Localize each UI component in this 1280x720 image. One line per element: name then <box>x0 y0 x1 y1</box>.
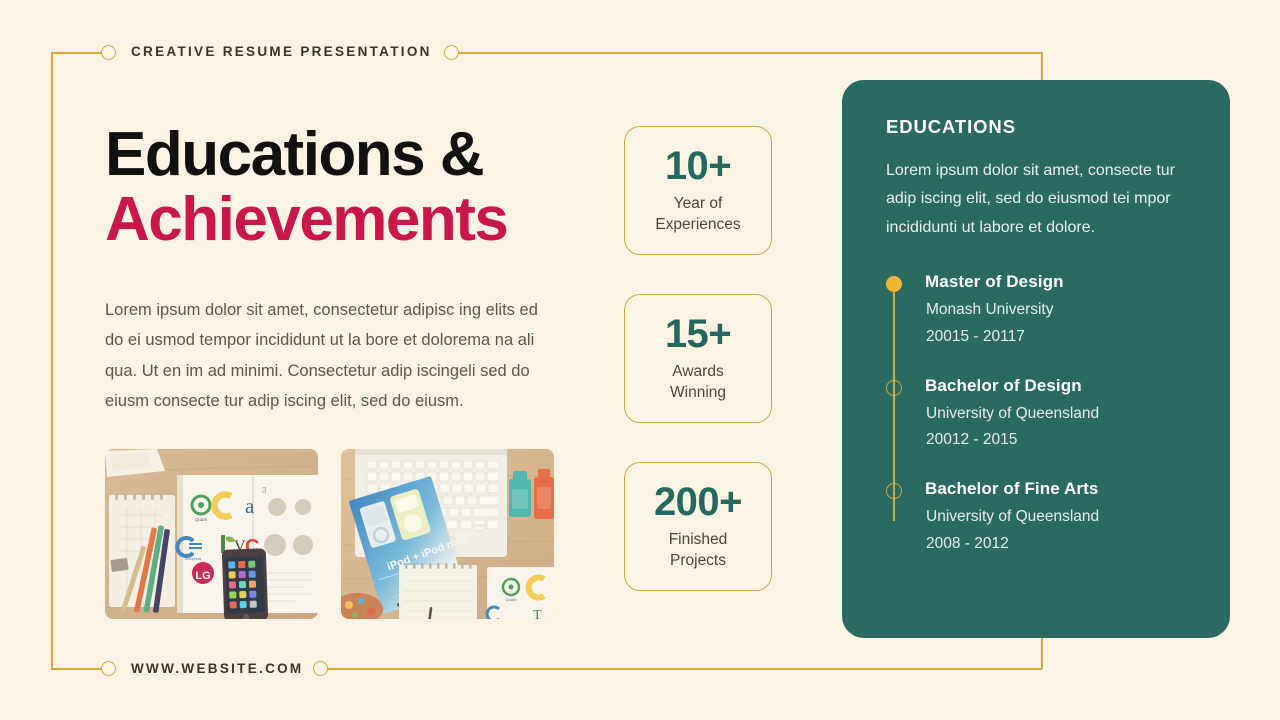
stat-card-experience: 10+ Year of Experiences <box>624 126 772 255</box>
stat-number: 15+ <box>665 314 731 354</box>
timeline-degree: Bachelor of Fine Arts <box>925 479 1196 499</box>
stat-label-line-2: Experiences <box>655 216 740 233</box>
frame-top-right-line <box>458 52 1042 54</box>
stat-label: Year of Experiences <box>655 194 740 235</box>
circle-marker-icon <box>101 661 116 676</box>
timeline-dot-icon <box>886 276 902 292</box>
educations-panel-title: EDUCATIONS <box>886 116 1196 138</box>
slide-footer-website-label: WWW.WEBSITE.COM <box>131 661 303 676</box>
educations-panel-description: Lorem ipsum dolor sit amet, consecte tur… <box>886 157 1196 242</box>
stat-label-line-1: Year of <box>674 195 723 212</box>
timeline-years: 2008 - 2012 <box>925 531 1196 558</box>
frame-top-left-line <box>51 52 101 54</box>
stat-card-projects: 200+ Finished Projects <box>624 462 772 591</box>
timeline-item: Bachelor of Fine Arts University of Quee… <box>925 479 1196 557</box>
stat-label-line-2: Winning <box>670 384 726 401</box>
timeline-degree: Master of Design <box>925 272 1196 292</box>
timeline-school: University of Queensland <box>925 401 1196 428</box>
page-title-line-2: Achievements <box>105 190 565 251</box>
frame-bottom-left-line <box>51 668 101 670</box>
circle-marker-icon <box>444 45 459 60</box>
stat-number: 200+ <box>654 482 742 522</box>
frame-bottom-right-line <box>327 668 1042 670</box>
intro-paragraph: Lorem ipsum dolor sit amet, consectetur … <box>105 295 555 417</box>
timeline-school: University of Queensland <box>925 504 1196 531</box>
stat-label-line-1: Finished <box>669 531 728 548</box>
timeline-degree: Bachelor of Design <box>925 376 1196 396</box>
laptop-keyboard-ipod-book-photo: iPod + iPod mini <box>341 449 554 619</box>
timeline-circle-icon <box>886 483 902 499</box>
education-timeline: Master of Design Monash University 20015… <box>886 272 1196 557</box>
stat-label-line-2: Projects <box>670 552 726 569</box>
educations-panel: EDUCATIONS Lorem ipsum dolor sit amet, c… <box>842 80 1230 638</box>
photo-gallery: Quark a wordpress V C LG <box>105 449 554 619</box>
timeline-school: Monash University <box>925 297 1196 324</box>
stat-label-line-1: Awards <box>672 363 723 380</box>
desk-notebook-magazine-phone-photo: Quark a wordpress V C LG <box>105 449 318 619</box>
timeline-circle-icon <box>886 380 902 396</box>
stat-label: Finished Projects <box>669 530 728 571</box>
stat-number: 10+ <box>665 146 731 186</box>
stat-card-awards: 15+ Awards Winning <box>624 294 772 423</box>
frame-left-vertical-line <box>51 52 53 668</box>
timeline-years: 20012 - 2015 <box>925 427 1196 454</box>
circle-marker-icon <box>101 45 116 60</box>
left-content-column: Educations & Achievements Lorem ipsum do… <box>105 125 565 417</box>
timeline-years: 20015 - 20117 <box>925 324 1196 351</box>
stat-label: Awards Winning <box>670 362 726 403</box>
slide-header-label: CREATIVE RESUME PRESENTATION <box>131 44 432 59</box>
page-title-line-1: Educations & <box>105 125 565 186</box>
timeline-item: Master of Design Monash University 20015… <box>925 272 1196 350</box>
timeline-item: Bachelor of Design University of Queensl… <box>925 376 1196 454</box>
statistics-column: 10+ Year of Experiences 15+ Awards Winni… <box>624 126 772 591</box>
circle-marker-icon <box>313 661 328 676</box>
